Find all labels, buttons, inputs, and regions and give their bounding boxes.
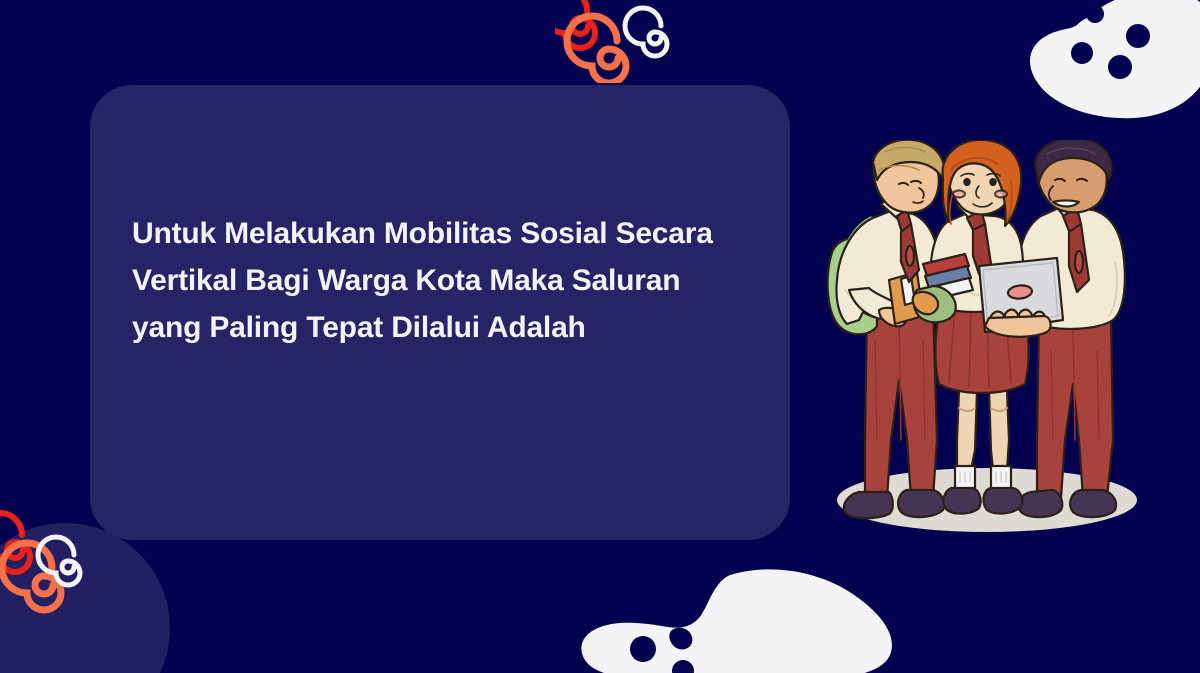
hand [985, 316, 1051, 337]
leg [957, 390, 977, 470]
blob-hole [630, 636, 656, 662]
shoe [984, 488, 1023, 513]
spiral-red-icon [555, 0, 595, 48]
shoe [1019, 490, 1063, 517]
student-left-blonde-boy [828, 140, 945, 518]
blob-hole [1126, 24, 1150, 48]
students-illustration [815, 140, 1160, 540]
blob-bottom-left-circle-icon [0, 523, 170, 673]
leg [989, 390, 1009, 470]
spiral-white-icon [625, 8, 667, 56]
blob-bottom-right-icon [580, 567, 910, 673]
page-title: Untuk Melakukan Mobilitas Sosial Secara … [132, 210, 742, 351]
eye [990, 179, 995, 185]
spiral-white-icon [38, 537, 80, 585]
blob-top-right-icon [1020, 0, 1200, 119]
shoe [844, 492, 893, 518]
slide-canvas: Untuk Melakukan Mobilitas Sosial Secara … [0, 0, 1200, 673]
shoe [898, 490, 944, 517]
blob-hole [672, 660, 694, 673]
shoe [944, 488, 981, 514]
blob-notch [669, 628, 692, 650]
laptop [979, 258, 1063, 337]
spiral-orange-icon [567, 16, 626, 83]
spiral-orange-icon [2, 543, 61, 610]
headline-card: Untuk Melakukan Mobilitas Sosial Secara … [90, 85, 790, 540]
eye [964, 179, 969, 185]
blob-hole [1071, 42, 1093, 64]
blob-hole [1108, 55, 1132, 79]
spiral-cluster-top [555, 0, 685, 83]
spiral-red-icon [0, 513, 30, 572]
shoe [1070, 490, 1116, 517]
blob-hole [1086, 5, 1104, 23]
students-illustration-svg [815, 140, 1160, 540]
